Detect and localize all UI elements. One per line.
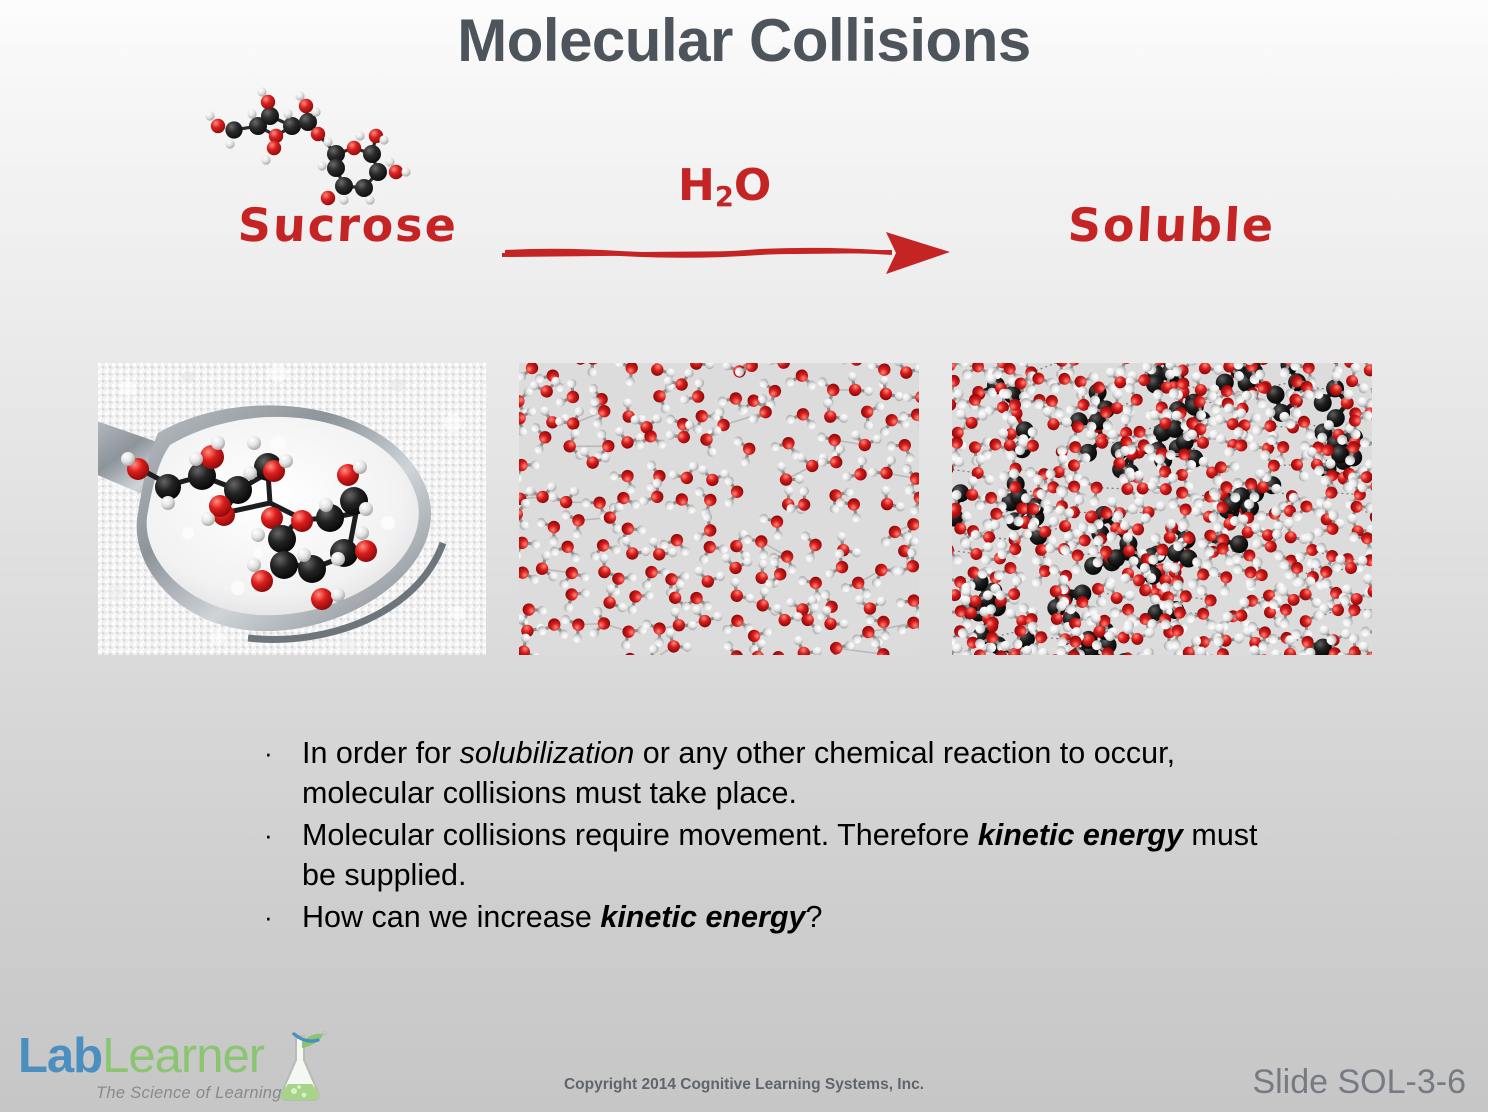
reactant-label: Sucrose <box>237 198 460 252</box>
h2o-o: O <box>734 160 771 211</box>
bullet-3-pre: How can we increase <box>302 900 600 934</box>
h2o-h: H <box>678 160 715 211</box>
list-item: · In order for solubilization or any oth… <box>258 733 1258 813</box>
arrow-right-icon <box>500 226 970 274</box>
bullet-2-pre: Molecular collisions require movement. T… <box>302 818 978 852</box>
reaction-scheme: Sucrose H2O Soluble <box>0 78 1488 288</box>
bullet-list: · In order for solubilization or any oth… <box>258 733 1258 939</box>
bullet-1-emphasis: solubilization <box>460 736 635 770</box>
bullet-marker: · <box>264 815 273 855</box>
logo-wordmark: LabLearner <box>18 1032 264 1081</box>
reaction-condition-label: H2O <box>678 160 771 213</box>
lablearner-logo: LabLearner The Science of Learning <box>14 1030 324 1108</box>
slide-root: Molecular Collisions <box>0 0 1488 1112</box>
panel-water <box>519 363 919 655</box>
logo-lab-text: Lab <box>18 1029 102 1083</box>
panel-solution <box>952 363 1372 655</box>
bullet-1-pre: In order for <box>302 736 460 770</box>
bullet-marker: · <box>264 897 273 937</box>
bullet-marker: · <box>264 733 273 773</box>
product-label: Soluble <box>1067 198 1277 252</box>
slide-number: Slide SOL-3-6 <box>1252 1063 1466 1102</box>
logo-learner-text: Learner <box>102 1029 264 1083</box>
bullet-3-emphasis: kinetic energy <box>600 900 805 934</box>
list-item: · How can we increase kinetic energy? <box>258 897 1258 937</box>
panel-sugar-spoon <box>98 363 486 655</box>
bullet-3-post: ? <box>805 900 822 934</box>
list-item: · Molecular collisions require movement.… <box>258 815 1258 895</box>
sucrose-molecule-icon <box>196 76 411 206</box>
h2o-subscript: 2 <box>715 182 734 213</box>
bullet-2-emphasis: kinetic energy <box>978 818 1183 852</box>
page-title: Molecular Collisions <box>0 6 1488 75</box>
